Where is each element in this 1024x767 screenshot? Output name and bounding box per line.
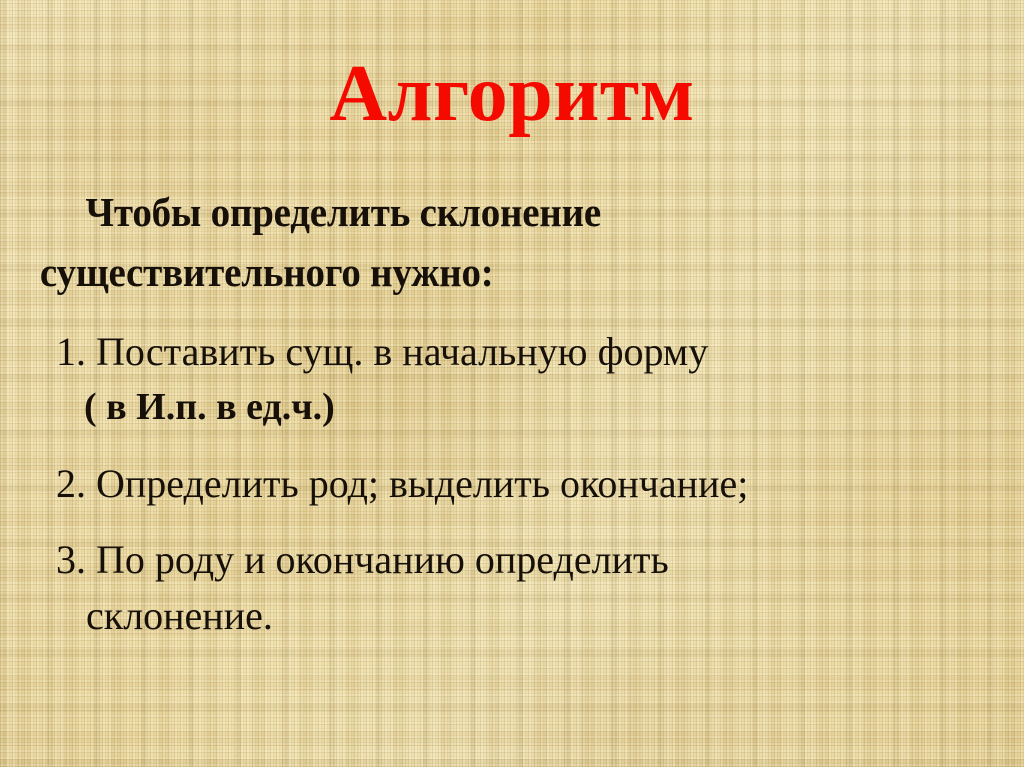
slide-content: Алгоритм Чтобы определить склонение суще… bbox=[0, 0, 1024, 767]
intro-line-1: Чтобы определить склонение bbox=[40, 182, 973, 242]
steps-list: 1. Поставить сущ. в начальную форму ( в … bbox=[0, 324, 1024, 644]
body-text-block: Чтобы определить склонение существительн… bbox=[0, 182, 1024, 644]
intro-line-2: существительного нужно: bbox=[40, 242, 973, 302]
intro-paragraph: Чтобы определить склонение существительн… bbox=[0, 182, 973, 302]
list-item-step-1: 1. Поставить сущ. в начальную форму bbox=[0, 324, 1024, 380]
list-item-step-1-note: ( в И.п. в ед.ч.) bbox=[0, 380, 1024, 434]
list-item-step-3: 3. По роду и окончанию определить bbox=[0, 532, 1024, 588]
slide-canvas: Алгоритм Чтобы определить склонение суще… bbox=[0, 0, 1024, 767]
page-title: Алгоритм bbox=[0, 54, 1024, 134]
list-item-step-2: 2. Определить род; выделить окончание; bbox=[0, 456, 1024, 512]
list-item-step-3-continuation: склонение. bbox=[0, 588, 1024, 644]
